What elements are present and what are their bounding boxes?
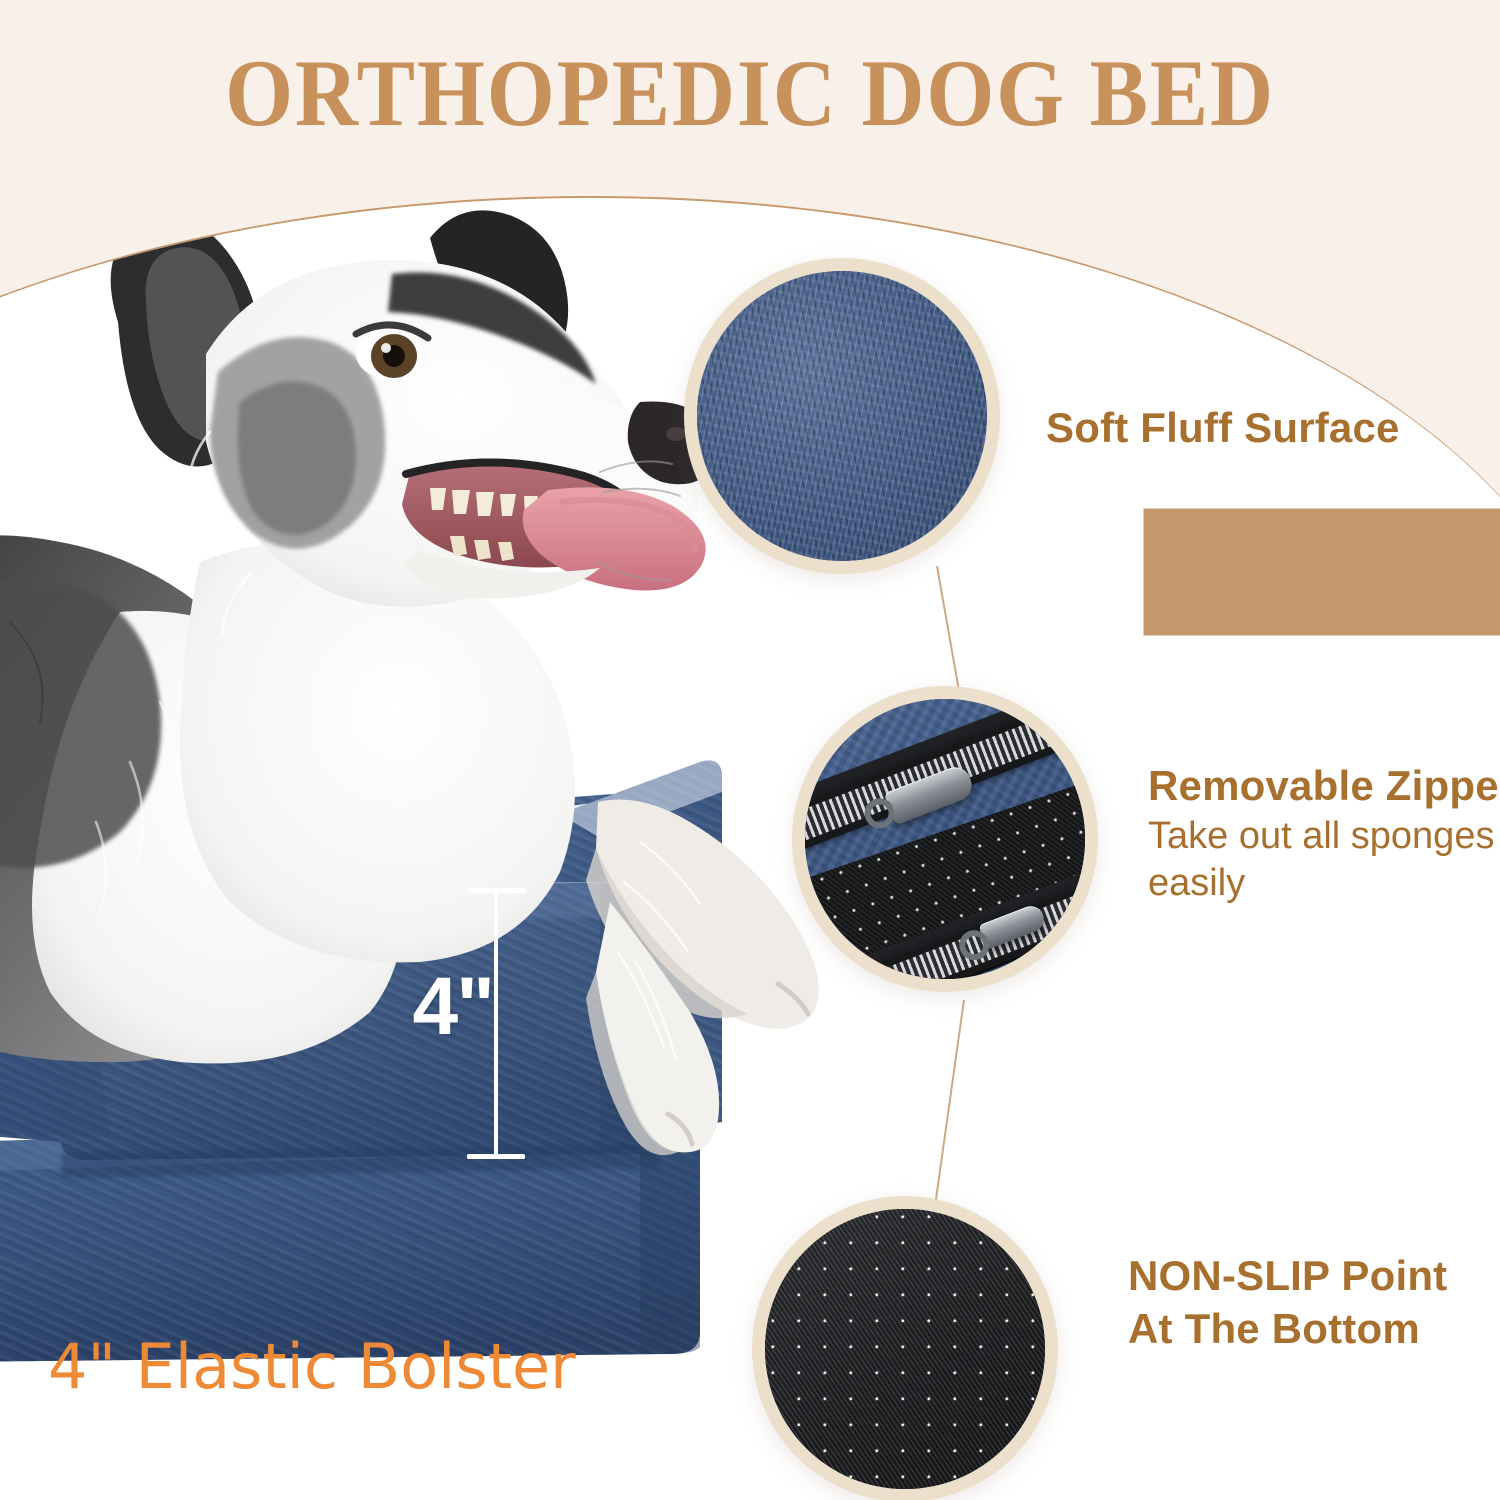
callout-circle-soft-fluff [684,258,1000,574]
callout-circle-removable-zipper [792,686,1098,992]
callout-text-non-slip: NON-SLIP Point At The Bottom [1128,1250,1447,1355]
dimension-label: 4" [383,966,493,1048]
dog-paws [586,800,819,1156]
callout-heading-line2: At The Bottom [1128,1303,1447,1356]
callout-text-soft-fluff: Soft Fluff Surface [1046,402,1400,455]
bolster-caption: 4" Elastic Bolster [48,1330,576,1403]
callout-circle-non-slip [752,1196,1058,1500]
callout-heading: NON-SLIP Point [1128,1250,1447,1303]
infographic-canvas: ORTHOPEDIC DOG BED [0,0,1500,1500]
page-title: ORTHOPEDIC DOG BED [60,44,1440,144]
callout-heading: Removable Zipper [1148,760,1500,813]
dimension-line [494,888,498,1158]
zipper-closeup-icon [805,699,1085,979]
callout-subtext: Take out all sponges easily [1148,813,1498,908]
callout-heading: Soft Fluff Surface [1046,402,1400,455]
dimension-annotation: 4" [445,888,565,1188]
callout-text-removable-zipper: Removable Zipper Take out all sponges ea… [1148,760,1500,908]
non-slip-dotted-fabric-icon [765,1209,1045,1489]
fluff-fabric-swatch-icon [697,271,987,561]
dimension-cap-bottom [467,1154,525,1159]
